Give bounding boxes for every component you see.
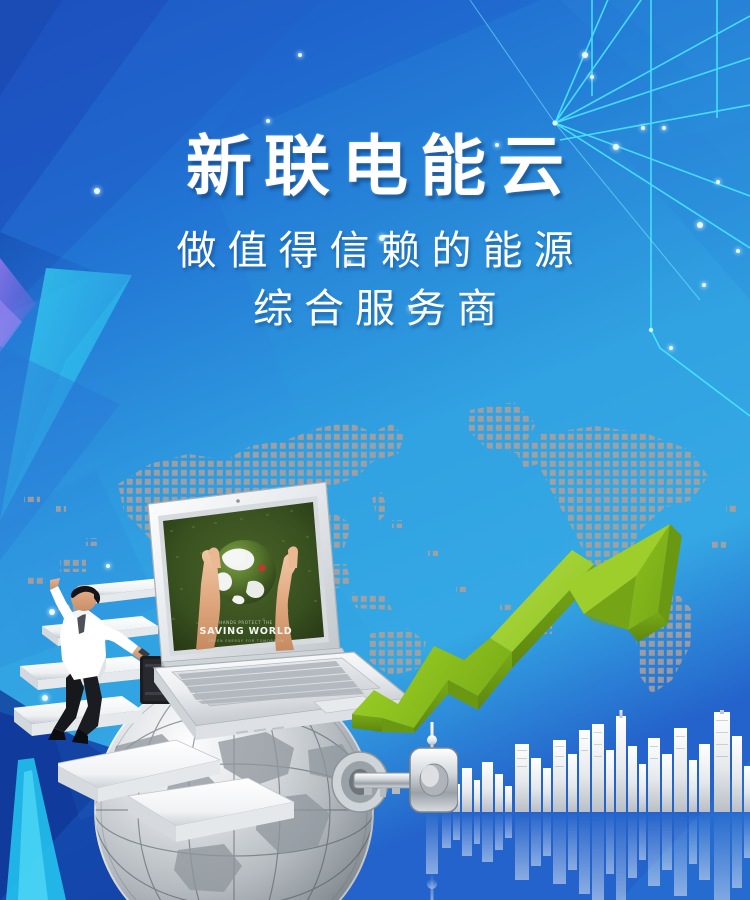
screen-globe	[212, 540, 276, 604]
screen-caption-below: GREEN ENERGY FOR TOMORROW	[208, 639, 285, 643]
screen-caption: SAVING WORLD	[200, 626, 293, 637]
city-skyline	[420, 710, 750, 900]
laptop-lid: HANDS PROTECT THE SAVING WORLD GREEN ENE…	[148, 482, 340, 666]
growth-arrow-svg	[352, 518, 682, 733]
subtitle-line-1: 做值得信赖的能源	[0, 222, 750, 280]
laptop-screen: HANDS PROTECT THE SAVING WORLD GREEN ENE…	[163, 502, 324, 651]
network-node	[552, 120, 557, 125]
city-skyline-svg	[420, 710, 750, 900]
page-title: 新联电能云	[0, 128, 750, 206]
headline-block: 新联电能云 做值得信赖的能源 综合服务商	[0, 128, 750, 338]
page-subtitle: 做值得信赖的能源 综合服务商	[0, 222, 750, 338]
growth-arrow-icon	[352, 518, 682, 733]
subtitle-line-2: 综合服务商	[0, 280, 750, 338]
screen-caption-above: HANDS PROTECT THE	[219, 620, 273, 625]
promo-poster: HANDS PROTECT THE SAVING WORLD GREEN ENE…	[0, 0, 750, 900]
